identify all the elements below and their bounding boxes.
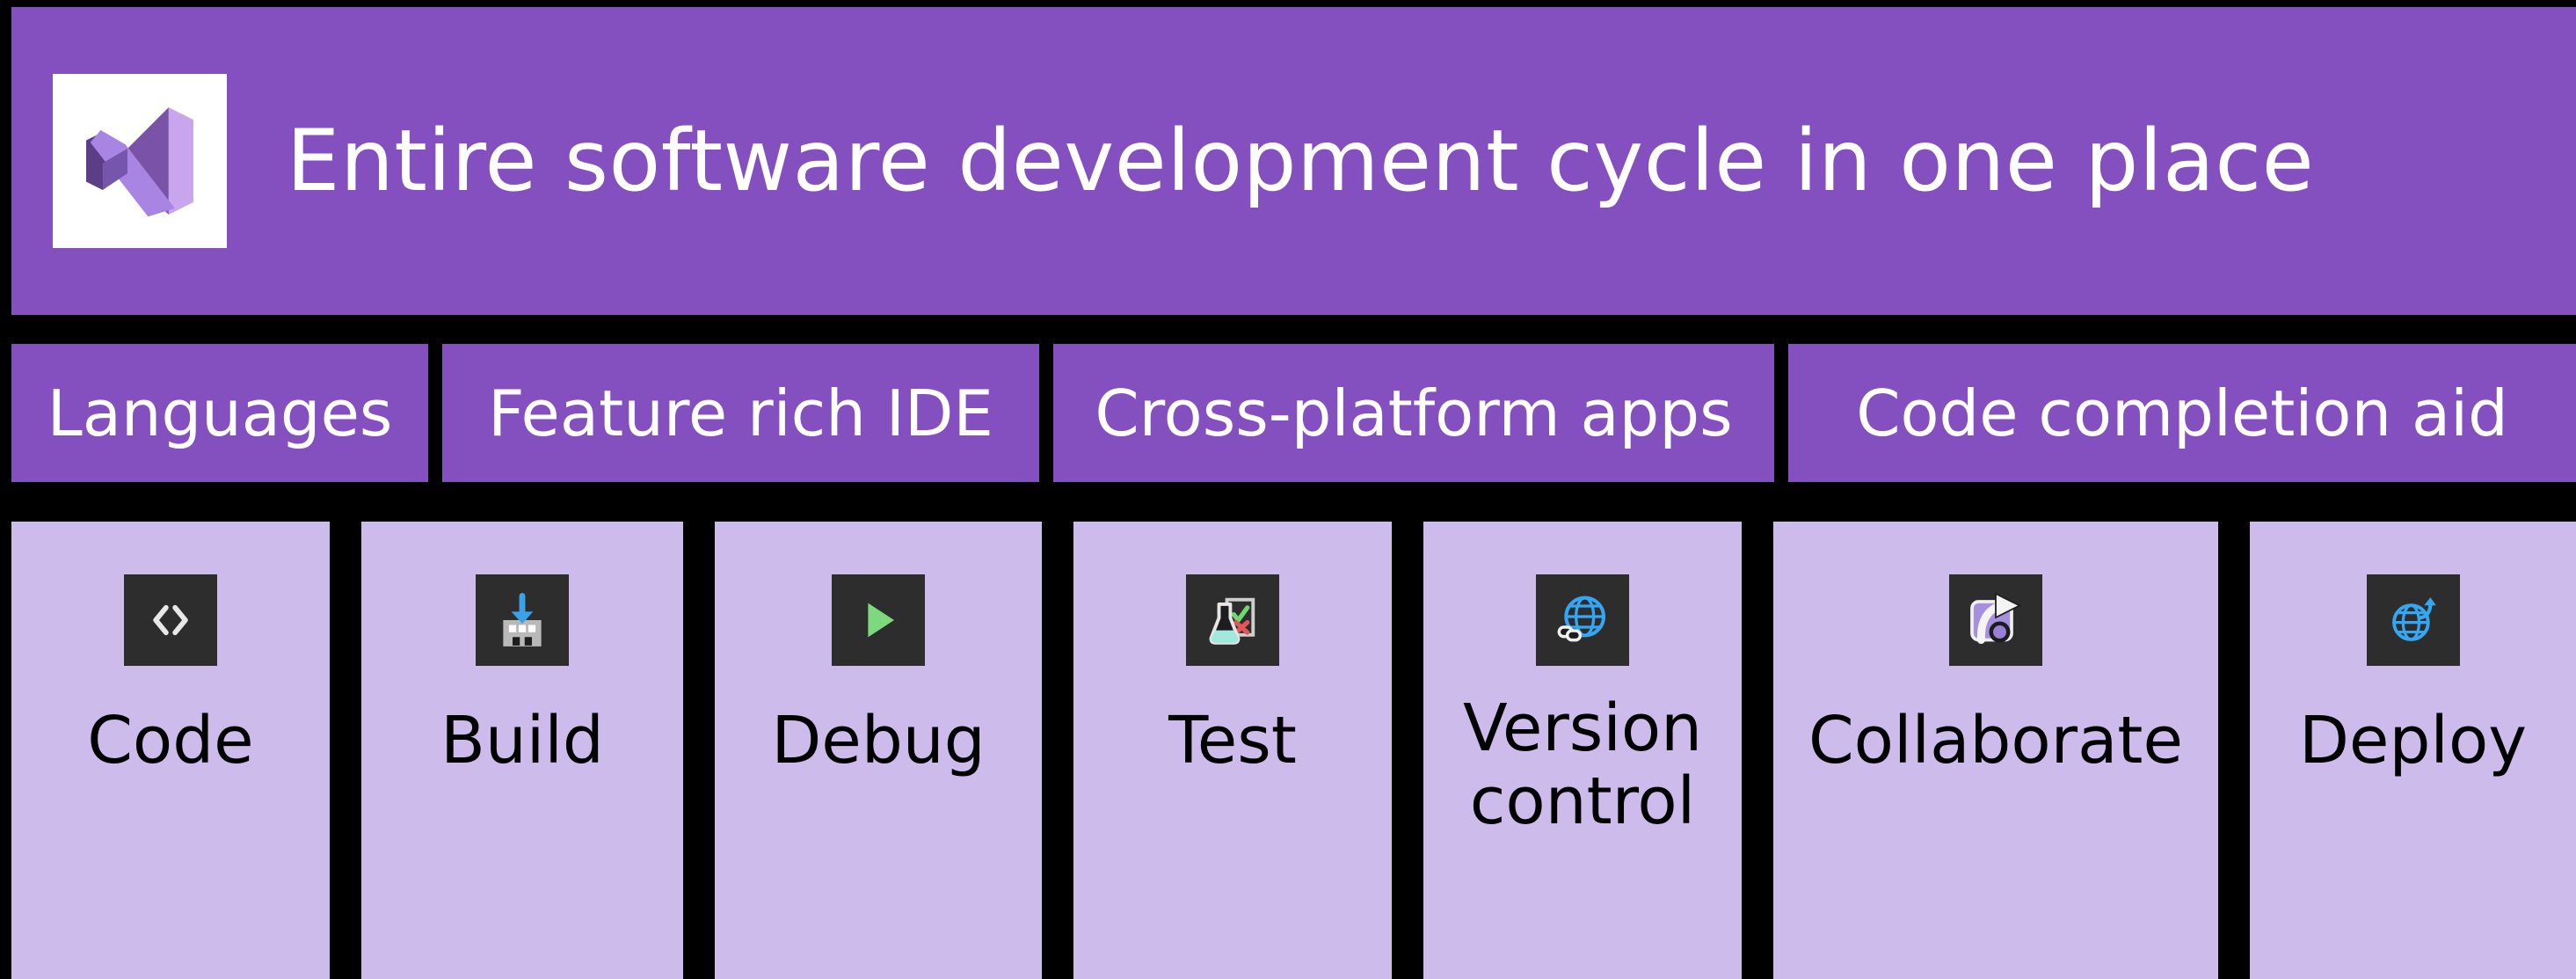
tab-label: Cross-platform apps: [1095, 376, 1732, 450]
build-download-icon: [476, 574, 569, 666]
card-label: Build: [361, 705, 683, 778]
card-build[interactable]: Build: [361, 522, 683, 979]
card-label: Collaborate: [1773, 705, 2218, 778]
visual-studio-logo-icon: [53, 74, 227, 248]
tab-cross-platform-apps[interactable]: Cross-platform apps: [1053, 344, 1774, 482]
card-label: Version control: [1423, 692, 1742, 838]
card-debug[interactable]: Debug: [715, 522, 1042, 979]
card-label: Debug: [715, 705, 1042, 778]
tab-label: Code completion aid: [1856, 376, 2508, 450]
collaborate-share-icon: [1949, 574, 2042, 666]
card-collaborate[interactable]: Collaborate: [1773, 522, 2218, 979]
tab-languages[interactable]: Languages: [11, 344, 428, 482]
slide-canvas: Entire software development cycle in one…: [0, 0, 2576, 955]
lifecycle-card-row: Code Build: [11, 522, 2576, 979]
card-test[interactable]: Test: [1073, 522, 1392, 979]
page-title: Entire software development cycle in one…: [227, 117, 2576, 206]
tab-feature-rich-ide[interactable]: Feature rich IDE: [442, 344, 1039, 482]
card-label: Deploy: [2250, 705, 2576, 778]
tab-label: Feature rich IDE: [488, 376, 993, 450]
card-version-control[interactable]: Version control: [1423, 522, 1742, 979]
tab-label: Languages: [47, 376, 393, 450]
code-brackets-icon: [124, 574, 217, 666]
card-label: Code: [11, 705, 330, 778]
header-banner: Entire software development cycle in one…: [11, 7, 2576, 315]
card-deploy[interactable]: Deploy: [2250, 522, 2576, 979]
tab-code-completion-aid[interactable]: Code completion aid: [1788, 344, 2576, 482]
deploy-globe-arrow-icon: [2367, 574, 2460, 666]
feature-tab-row: Languages Feature rich IDE Cross-platfor…: [11, 344, 2576, 482]
debug-play-icon: [832, 574, 925, 666]
card-label: Test: [1073, 705, 1392, 778]
card-code[interactable]: Code: [11, 522, 330, 979]
test-flask-icon: [1186, 574, 1279, 666]
version-control-globe-link-icon: [1536, 574, 1629, 666]
